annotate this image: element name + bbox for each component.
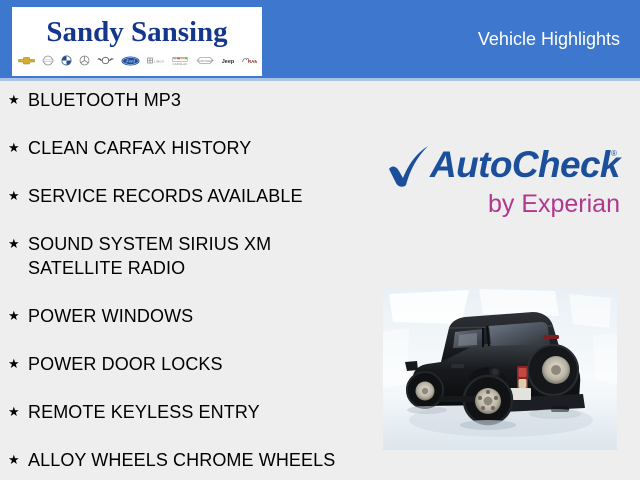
list-item: ★ SERVICE RECORDS AVAILABLE <box>0 184 372 208</box>
highlight-label: CLEAN CARFAX HISTORY <box>28 136 368 160</box>
dealer-wordmark: Sandy Sansing <box>46 18 227 47</box>
page-title: Vehicle Highlights <box>478 28 620 50</box>
mini-logo <box>97 55 114 66</box>
list-item: ★ POWER DOOR LOCKS <box>0 352 372 376</box>
registered-trademark-icon: ® <box>611 149 617 158</box>
autocheck-tagline: by Experian <box>488 189 620 219</box>
jeep-logo: Jeep <box>221 55 235 66</box>
svg-text:CADILLAC: CADILLAC <box>172 62 187 66</box>
star-bullet-icon: ★ <box>8 400 28 424</box>
list-item: ★ SOUND SYSTEM SIRIUS XM SATELLITE RADIO <box>0 232 372 280</box>
vehicle-highlights-page: Sandy Sansing <box>0 0 640 480</box>
highlight-label: BLUETOOTH MP3 <box>28 88 368 112</box>
chrysler-logo: CHRYSLER <box>196 55 214 66</box>
list-item: ★ BLUETOOTH MP3 <box>0 88 372 112</box>
checkmark-icon <box>386 145 432 194</box>
star-bullet-icon: ★ <box>8 184 28 208</box>
list-item: ★ REMOTE KEYLESS ENTRY <box>0 400 372 424</box>
svg-text:RAM: RAM <box>247 59 256 64</box>
star-bullet-icon: ★ <box>8 352 28 376</box>
svg-text:CHRYSLER: CHRYSLER <box>197 59 212 63</box>
dealer-brand-strip: Ford LINCOLN <box>19 54 255 67</box>
bmw-logo <box>61 55 72 66</box>
vehicle-photo[interactable] <box>383 288 617 450</box>
vehicle-photo-image <box>383 288 617 450</box>
autocheck-wordmark: AutoCheck <box>430 143 620 187</box>
ford-logo: Ford <box>121 55 140 66</box>
star-bullet-icon: ★ <box>8 448 28 472</box>
autocheck-brand-row: AutoCheck ® <box>386 143 622 189</box>
star-bullet-icon: ★ <box>8 88 28 112</box>
star-bullet-icon: ★ <box>8 304 28 328</box>
highlight-label: REMOTE KEYLESS ENTRY <box>28 400 368 424</box>
cadillac-logo: CADILLAC <box>171 55 189 66</box>
autocheck-logo[interactable]: AutoCheck ® by Experian <box>386 143 622 221</box>
highlight-label: ALLOY WHEELS CHROME WHEELS <box>28 448 368 472</box>
svg-text:LINCOLN: LINCOLN <box>154 59 164 63</box>
star-bullet-icon: ★ <box>8 136 28 160</box>
page-header: Sandy Sansing <box>0 0 640 80</box>
vehicle-highlights-list: ★ BLUETOOTH MP3 ★ CLEAN CARFAX HISTORY ★… <box>0 88 372 472</box>
ram-logo: RAM <box>242 55 257 66</box>
svg-text:Jeep: Jeep <box>221 59 234 65</box>
nissan-logo <box>42 55 54 66</box>
svg-text:Ford: Ford <box>125 58 135 63</box>
highlight-label: POWER DOOR LOCKS <box>28 352 368 376</box>
header-divider <box>0 78 640 81</box>
list-item: ★ CLEAN CARFAX HISTORY <box>0 136 372 160</box>
chevrolet-logo <box>18 55 35 66</box>
star-bullet-icon: ★ <box>8 232 28 256</box>
dealer-logo[interactable]: Sandy Sansing <box>12 7 262 76</box>
list-item: ★ POWER WINDOWS <box>0 304 372 328</box>
highlight-label: SERVICE RECORDS AVAILABLE <box>28 184 368 208</box>
lincoln-logo: LINCOLN <box>147 55 164 66</box>
highlight-label: POWER WINDOWS <box>28 304 368 328</box>
mercedes-benz-logo <box>79 55 90 66</box>
list-item: ★ ALLOY WHEELS CHROME WHEELS <box>0 448 372 472</box>
highlight-label: SOUND SYSTEM SIRIUS XM SATELLITE RADIO <box>28 232 368 280</box>
